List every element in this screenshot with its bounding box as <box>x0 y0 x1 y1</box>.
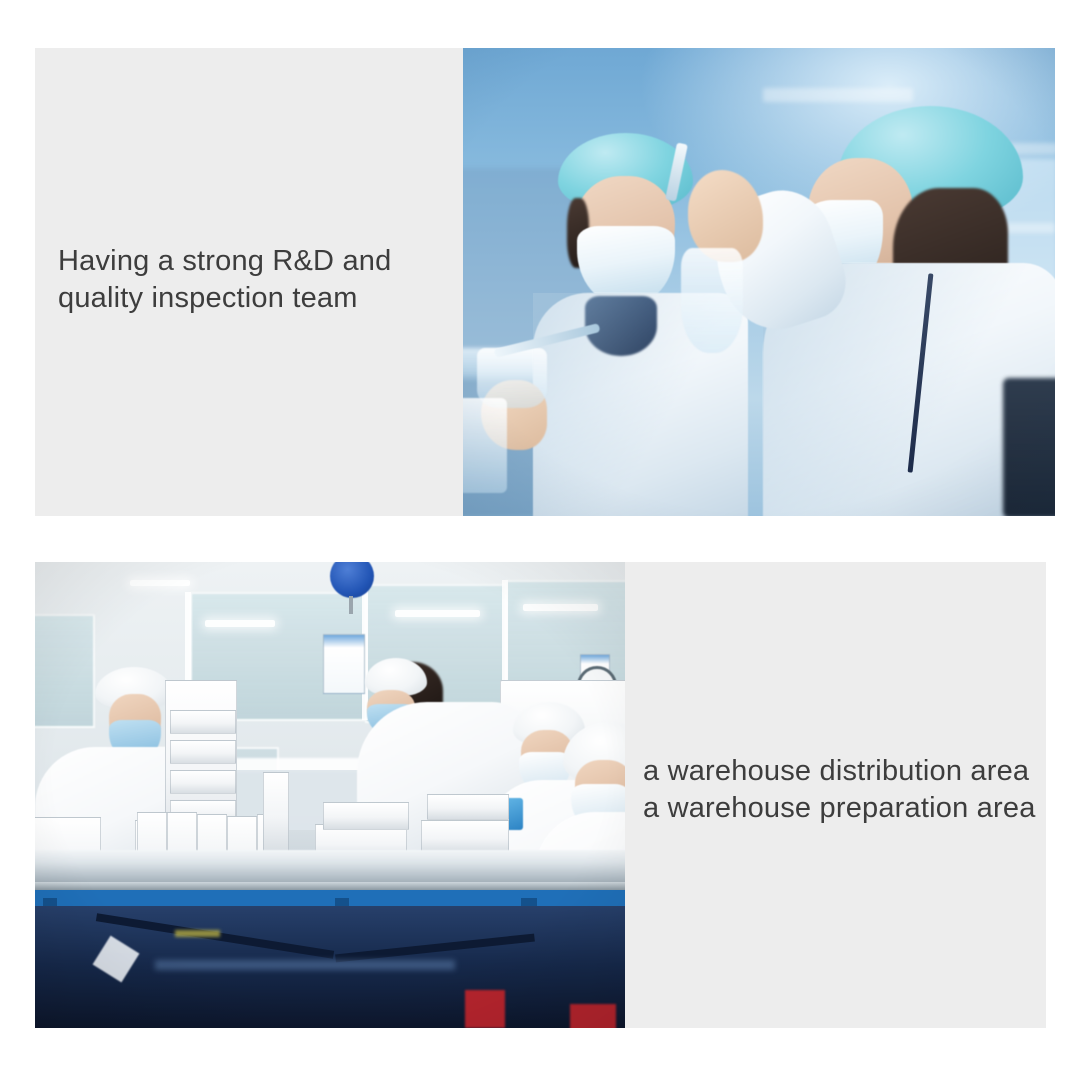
warehouse-photo-vignette <box>35 562 625 1028</box>
rd-quality-caption: Having a strong R&D and quality inspecti… <box>58 243 458 317</box>
warehouse-caption: a warehouse distribution area a warehous… <box>643 753 1043 827</box>
rd-quality-inspection-photo <box>463 48 1055 516</box>
warehouse-packing-photo <box>35 562 625 1028</box>
rd-photo-vignette <box>463 48 1055 516</box>
